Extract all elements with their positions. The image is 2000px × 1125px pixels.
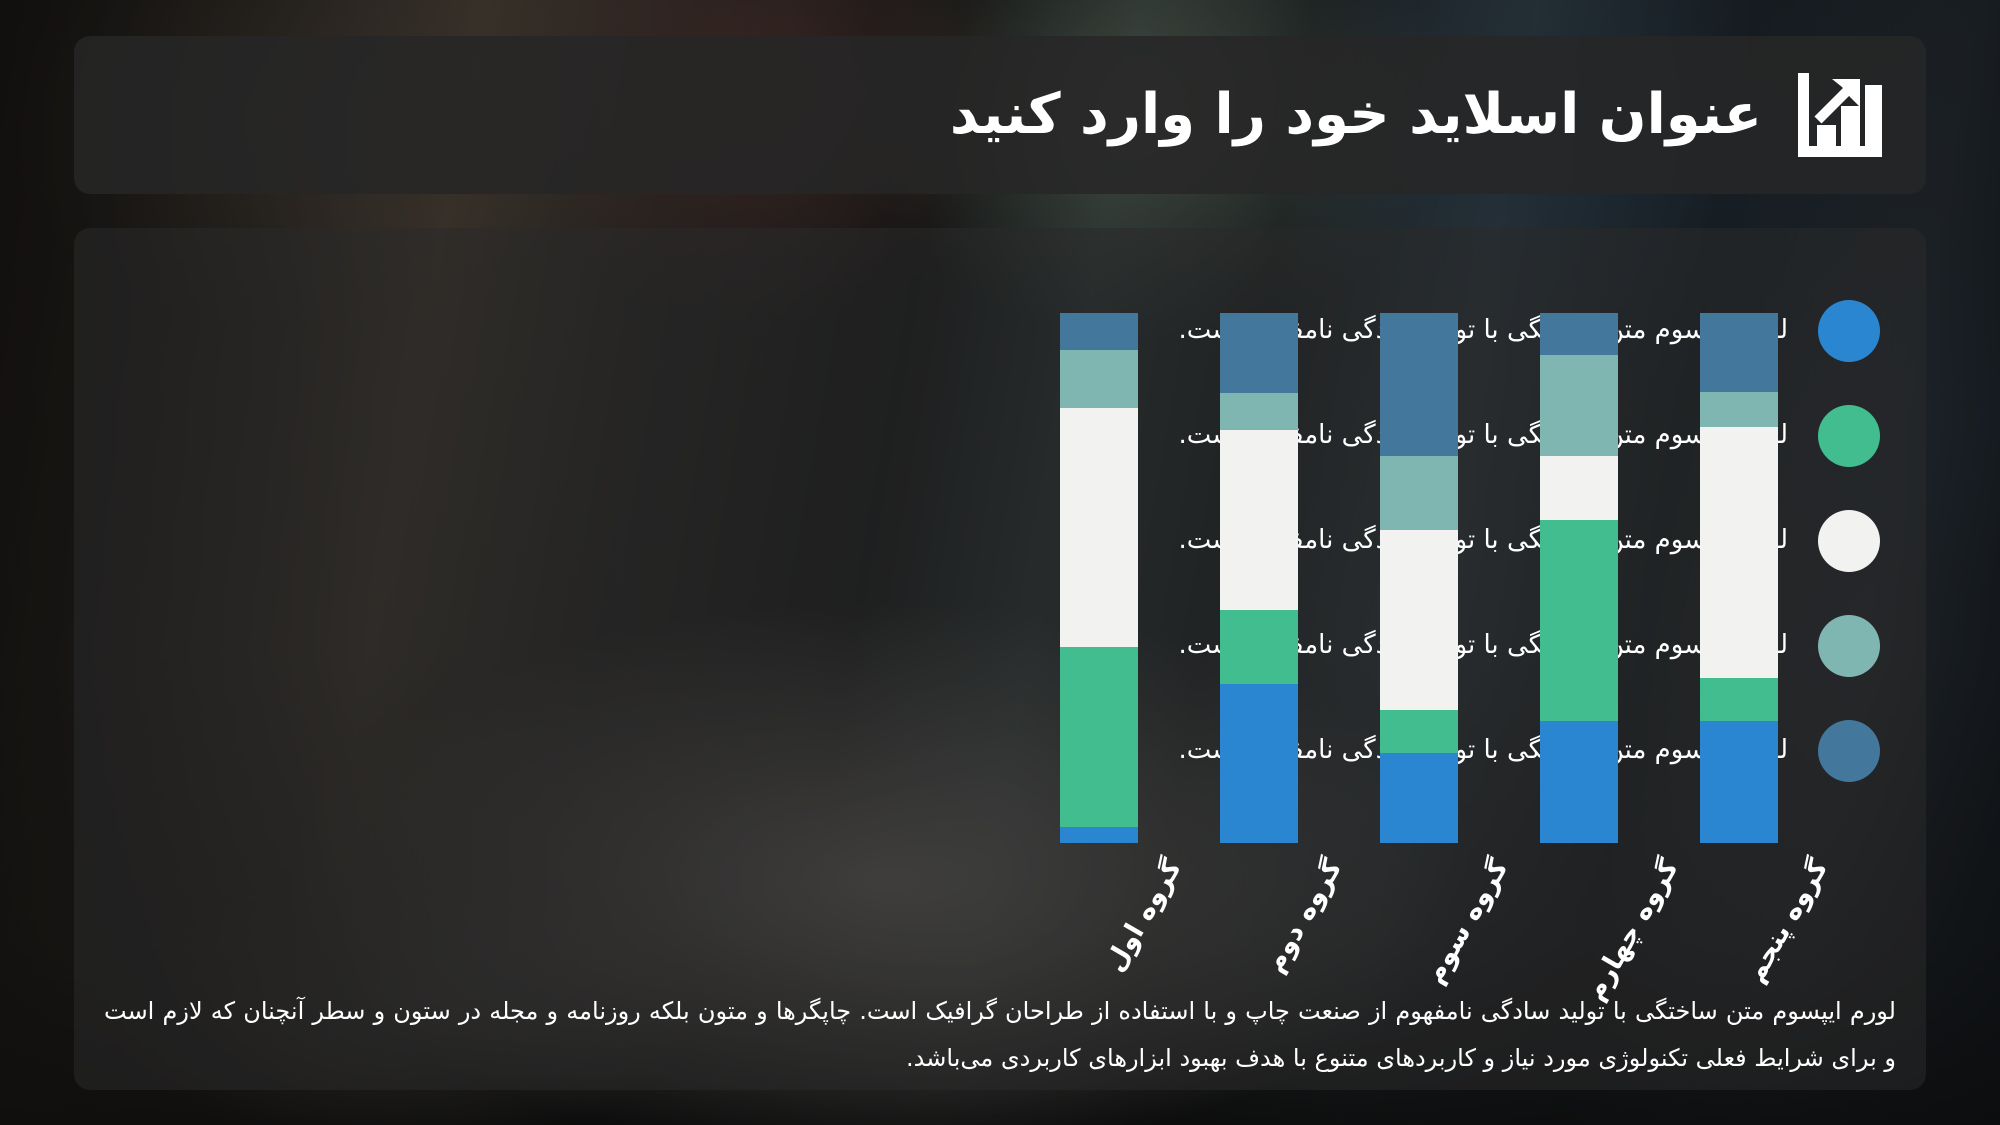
chart-bar-segment [1220, 430, 1298, 610]
chart-bar-segment [1060, 827, 1138, 843]
chart-bar-segment [1540, 520, 1618, 721]
chart-bar[interactable] [1060, 313, 1138, 843]
legend-color-dot [1818, 720, 1880, 782]
chart-bar-segment [1220, 313, 1298, 393]
chart-bar-segment [1060, 647, 1138, 827]
chart-x-label-text: گروه سوم [1419, 854, 1515, 989]
chart-bar-segment [1700, 313, 1778, 392]
chart-bar-segment [1220, 684, 1298, 843]
chart-x-label: گروه پنجم [1700, 852, 1778, 972]
chart-bar-segment [1540, 355, 1618, 456]
chart-x-label: گروه چهارم [1540, 852, 1618, 972]
chart-bar-segment [1060, 313, 1138, 350]
chart-bar-segment [1540, 721, 1618, 843]
chart-bar-segment [1380, 710, 1458, 752]
legend-color-dot [1818, 510, 1880, 572]
chart-bar-segment [1380, 530, 1458, 710]
chart-plot-area [1060, 313, 1800, 843]
legend-color-dot [1818, 405, 1880, 467]
chart-bar[interactable] [1380, 313, 1458, 843]
header-panel: عنوان اسلاید خود را وارد کنید [74, 36, 1926, 194]
chart-x-label: گروه سوم [1380, 852, 1458, 972]
chart-bar-segment [1380, 456, 1458, 530]
chart-bar-segment [1540, 456, 1618, 520]
chart-bar-segment [1380, 753, 1458, 843]
slide-canvas: عنوان اسلاید خود را وارد کنید لورم ایپسو… [0, 0, 2000, 1125]
chart-bar-segment [1060, 408, 1138, 647]
chart-bar-segment [1220, 393, 1298, 430]
legend-color-dot [1818, 300, 1880, 362]
chart-bar-segment [1700, 392, 1778, 427]
chart-bar-segment [1540, 313, 1618, 355]
footer-paragraph: لورم ایپسوم متن ساختگی با تولید سادگی نا… [104, 988, 1896, 1082]
chart-bar[interactable] [1700, 313, 1778, 843]
chart-x-label-text: گروه اول [1099, 854, 1188, 977]
legend-color-dot [1818, 615, 1880, 677]
chart-x-label: گروه دوم [1220, 852, 1298, 972]
chart-x-label: گروه اول [1060, 852, 1138, 972]
chart-x-label-text: گروه دوم [1259, 854, 1348, 978]
chart-bar[interactable] [1220, 313, 1298, 843]
chart-bar-segment [1700, 721, 1778, 843]
page-title: عنوان اسلاید خود را وارد کنید [950, 84, 1762, 146]
chart-bar-segment [1700, 678, 1778, 721]
chart-bar-segment [1220, 610, 1298, 684]
chart-bar[interactable] [1540, 313, 1618, 843]
chart-x-axis-labels: گروه اولگروه دومگروه سومگروه چهارمگروه پ… [1060, 852, 1800, 972]
chart-bar-segment [1060, 350, 1138, 408]
stacked-bar-chart [1060, 313, 1800, 843]
chart-bar-segment [1380, 313, 1458, 456]
chart-bar-segment [1700, 427, 1778, 678]
bar-chart-growth-icon [1788, 63, 1892, 167]
